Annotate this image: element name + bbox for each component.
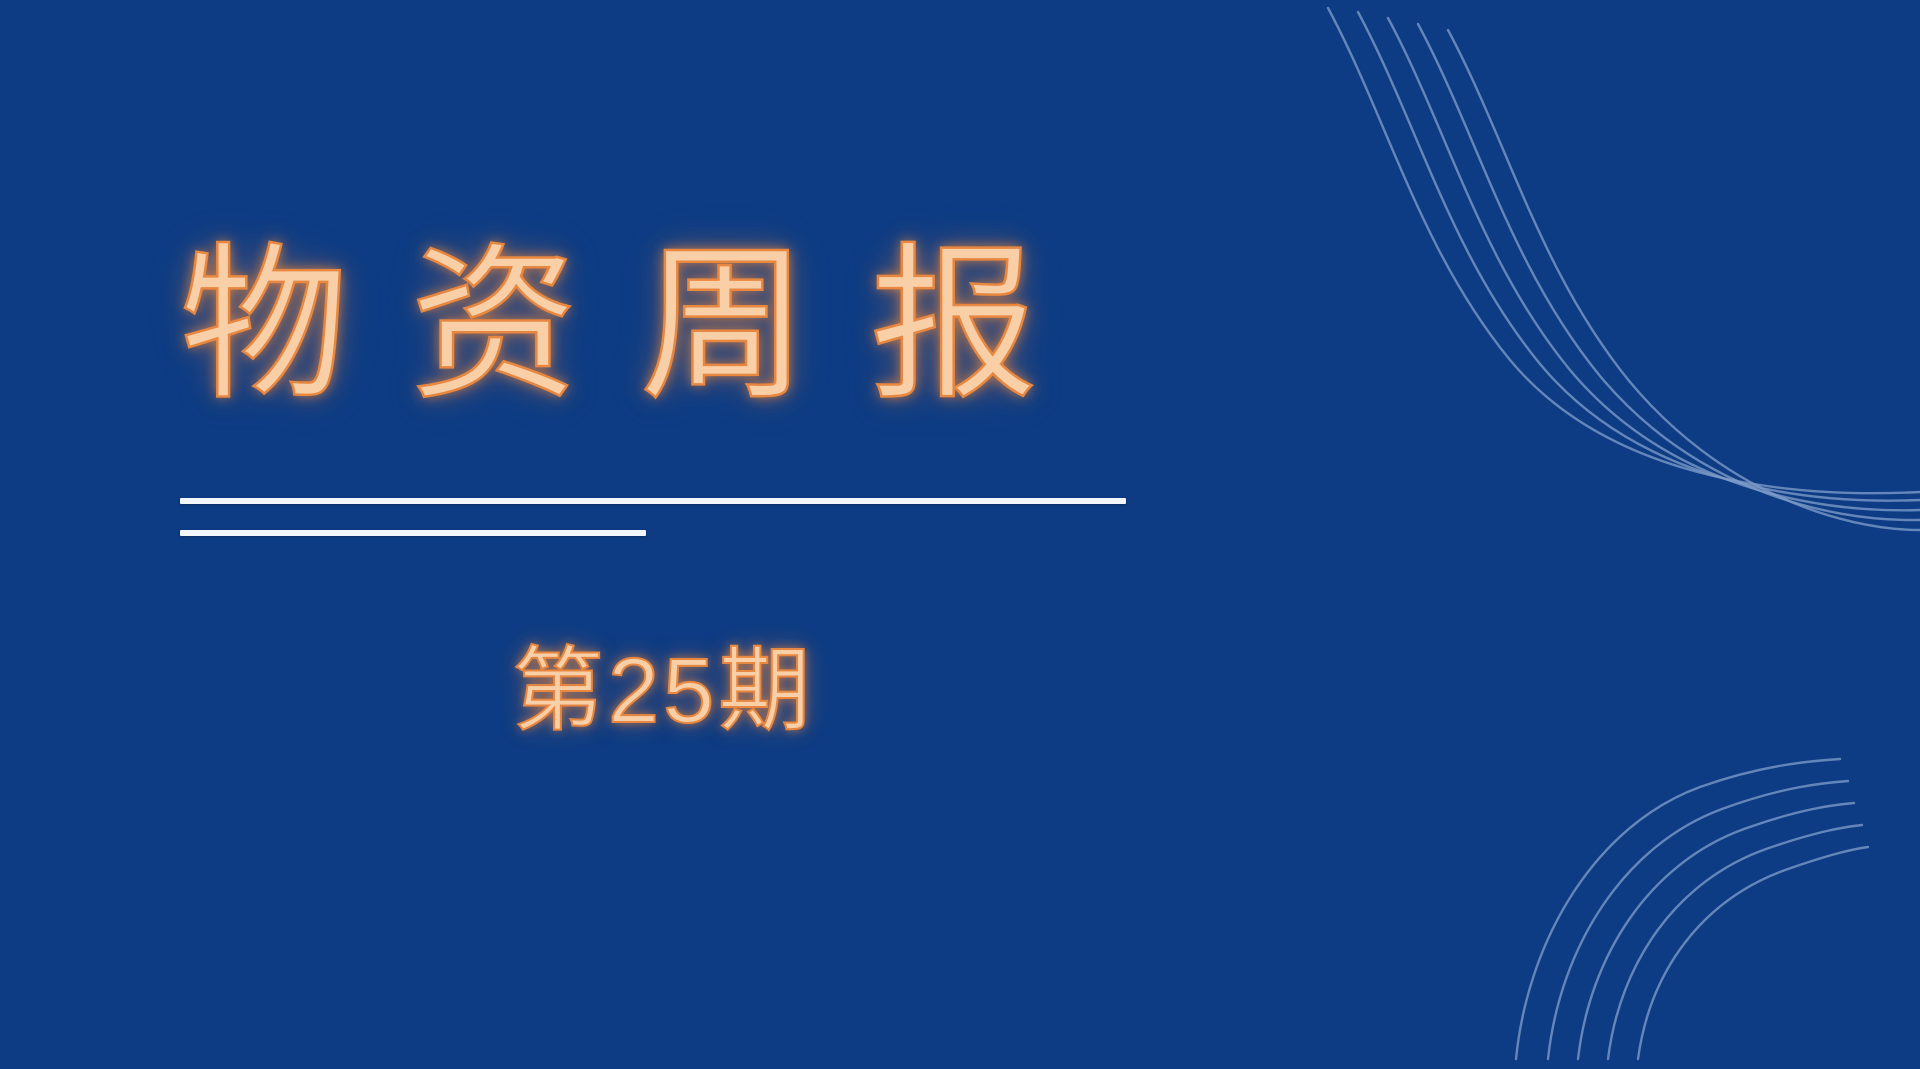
title-slide: 物资周报 第25期: [0, 0, 1920, 1069]
arc-line-5: [1638, 847, 1868, 1059]
wave-line-2: [1358, 12, 1920, 501]
arc-line-4: [1608, 825, 1862, 1059]
wave-line-5: [1448, 30, 1920, 530]
title-underline-long: [180, 498, 1126, 504]
wave-line-3: [1388, 18, 1920, 510]
arc-lines-bottom-right-decoration: [1500, 729, 1920, 1069]
issue-number-subtitle: 第25期: [512, 636, 814, 746]
wave-line-4: [1418, 24, 1920, 520]
page-title: 物资周报: [180, 240, 1380, 411]
arc-line-3: [1578, 803, 1854, 1059]
arc-line-1: [1516, 759, 1840, 1059]
wave-line-1: [1328, 8, 1920, 493]
title-underline-short: [180, 530, 646, 536]
arc-line-2: [1548, 781, 1848, 1059]
title-block: 物资周报: [180, 240, 1380, 411]
title-underline-group: [180, 498, 1126, 536]
